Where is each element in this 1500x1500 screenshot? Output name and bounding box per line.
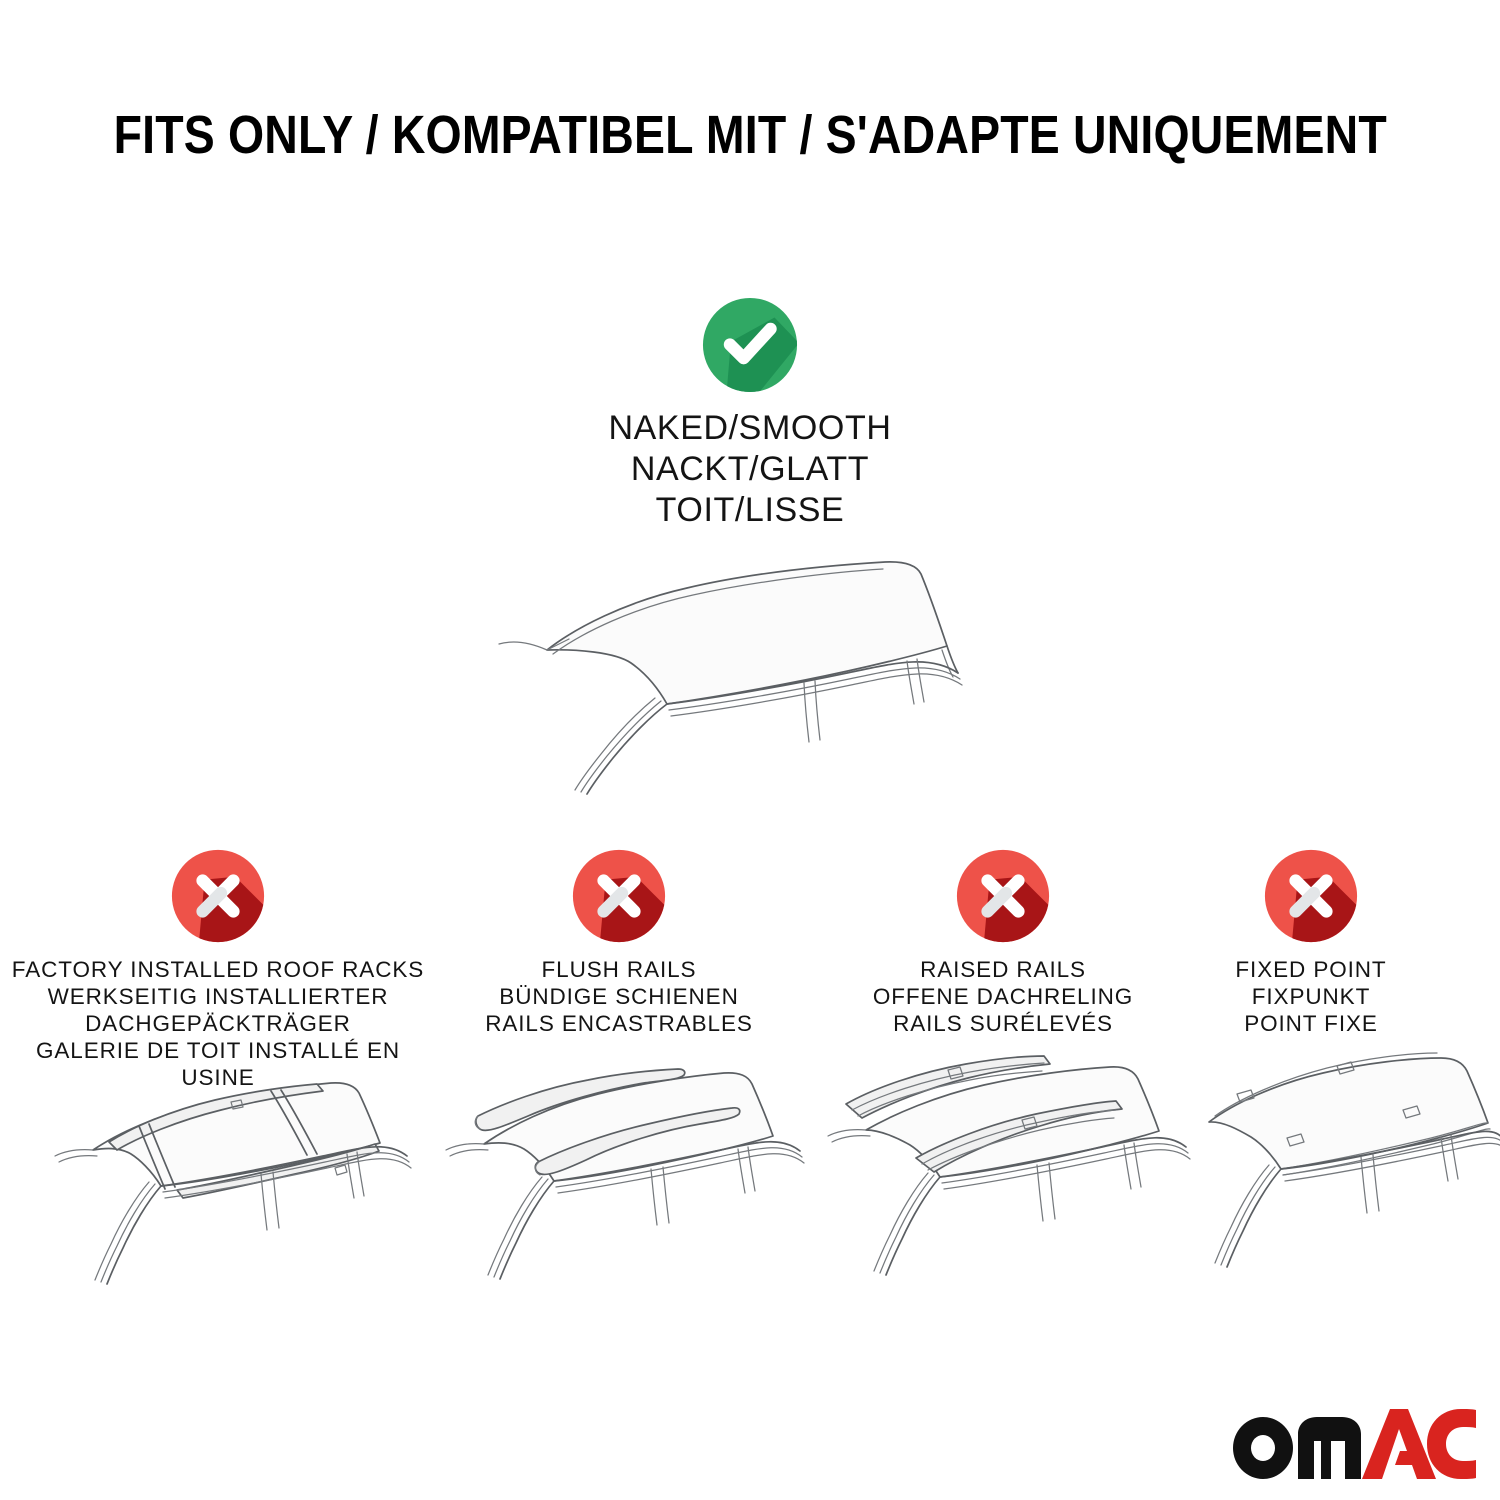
incompatible-labels: RAISED RAILS OFFENE DACHRELING RAILS SUR…	[822, 956, 1184, 1037]
logo-letter-o	[1233, 1417, 1293, 1479]
compatible-label-en: NAKED/SMOOTH	[0, 408, 1500, 449]
page-title: FITS ONLY / KOMPATIBEL MIT / S'ADAPTE UN…	[0, 104, 1500, 166]
logo-letter-a	[1362, 1409, 1436, 1479]
x-circle-icon	[955, 848, 1051, 944]
x-circle-icon	[170, 848, 266, 944]
incompatible-label-fr: RAILS ENCASTRABLES	[437, 1010, 801, 1037]
incompatible-label-de: OFFENE DACHRELING	[822, 983, 1184, 1010]
incompatible-label-en: FLUSH RAILS	[437, 956, 801, 983]
logo-letter-m	[1298, 1417, 1361, 1479]
raised-rails-roof-illustration	[822, 1058, 1202, 1298]
flush-rails-roof-illustration	[432, 1058, 812, 1298]
incompatible-item-flush-rails: FLUSH RAILS BÜNDIGE SCHIENEN RAILS ENCAS…	[437, 848, 801, 1037]
omac-logo	[1232, 1408, 1476, 1480]
incompatible-item-factory-installed-roof-racks: FACTORY INSTALLED ROOF RACKS WERKSEITIG …	[8, 848, 428, 1091]
compatible-labels: NAKED/SMOOTH NACKT/GLATT TOIT/LISSE	[0, 408, 1500, 531]
factory-rack-roof-illustration	[35, 1058, 435, 1298]
incompatible-section: FACTORY INSTALLED ROOF RACKS WERKSEITIG …	[0, 848, 1500, 1078]
check-circle-icon	[701, 296, 799, 394]
incompatible-item-raised-rails: RAISED RAILS OFFENE DACHRELING RAILS SUR…	[822, 848, 1184, 1037]
incompatible-label-de: WERKSEITIG INSTALLIERTER DACHGEPÄCKTRÄGE…	[8, 983, 428, 1037]
page-title-text: FITS ONLY / KOMPATIBEL MIT / S'ADAPTE UN…	[113, 104, 1386, 166]
incompatible-labels: FIXED POINT FIXPUNKT POINT FIXE	[1180, 956, 1442, 1037]
incompatible-label-en: FIXED POINT	[1180, 956, 1442, 983]
incompatible-label-de: FIXPUNKT	[1180, 983, 1442, 1010]
incompatible-label-de: BÜNDIGE SCHIENEN	[437, 983, 801, 1010]
incompatible-label-en: FACTORY INSTALLED ROOF RACKS	[8, 956, 428, 983]
x-circle-icon	[1263, 848, 1359, 944]
incompatible-label-fr: POINT FIXE	[1180, 1010, 1442, 1037]
incompatible-item-fixed-point: FIXED POINT FIXPUNKT POINT FIXE	[1180, 848, 1442, 1037]
fixed-point-roof-illustration	[1175, 1058, 1500, 1298]
logo-letter-c	[1427, 1409, 1476, 1479]
smooth-roof-illustration	[455, 520, 1045, 820]
compatible-label-de: NACKT/GLATT	[0, 449, 1500, 490]
x-circle-icon	[571, 848, 667, 944]
incompatible-label-fr: RAILS SURÉLEVÉS	[822, 1010, 1184, 1037]
compatible-section: NAKED/SMOOTH NACKT/GLATT TOIT/LISSE	[0, 296, 1500, 531]
incompatible-labels: FLUSH RAILS BÜNDIGE SCHIENEN RAILS ENCAS…	[437, 956, 801, 1037]
incompatible-label-en: RAISED RAILS	[822, 956, 1184, 983]
